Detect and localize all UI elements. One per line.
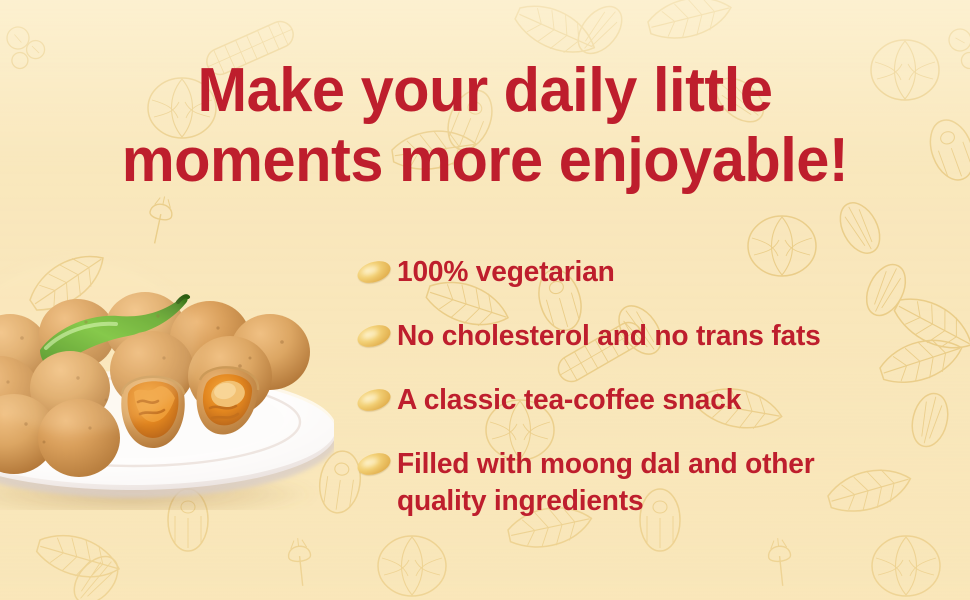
list-item: Filled with moong dal and other quality …: [357, 446, 922, 520]
almond-bullet-icon: [355, 385, 394, 415]
list-item: A classic tea-coffee snack: [357, 382, 922, 440]
benefit-label: A classic tea-coffee snack: [397, 382, 906, 419]
headline-line-1: Make your daily little: [19, 56, 950, 126]
benefits-list: 100% vegetarian No cholesterol and no tr…: [357, 254, 922, 520]
kachori-plate-photo: [0, 242, 334, 510]
benefit-label: Filled with moong dal and other quality …: [397, 446, 906, 520]
headline-line-2: moments more enjoyable!: [19, 126, 950, 196]
list-item: 100% vegetarian: [357, 254, 922, 312]
benefit-label: 100% vegetarian: [397, 254, 906, 291]
almond-bullet-icon: [355, 257, 394, 287]
page-title: Make your daily little moments more enjo…: [19, 56, 950, 196]
benefit-label: No cholesterol and no trans fats: [397, 318, 906, 355]
almond-bullet-icon: [355, 321, 394, 351]
list-item: No cholesterol and no trans fats: [357, 318, 922, 376]
almond-bullet-icon: [355, 449, 394, 479]
promo-banner: Make your daily little moments more enjo…: [0, 0, 970, 600]
